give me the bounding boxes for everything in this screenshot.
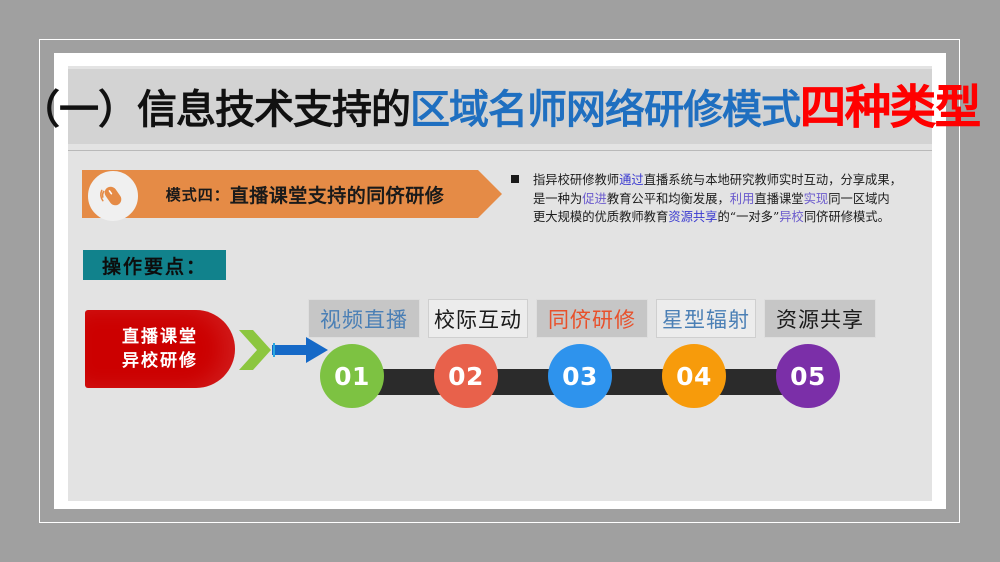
step-node-02[interactable]: 02 xyxy=(434,344,498,408)
desc-l3-c: 同侪研修模式。 xyxy=(804,210,890,224)
operation-points-tag: 操作要点： xyxy=(83,250,226,280)
step-label-box-01[interactable]: 视频直播 xyxy=(308,299,420,338)
desc-l3-highlight-1: 资源共享 xyxy=(668,210,717,224)
desc-l2-b: 教育公平和均衡发展， xyxy=(607,192,730,206)
desc-l3-a: 更大规模的优质教师教育 xyxy=(533,210,668,224)
desc-l2-d: 同一区域内 xyxy=(828,192,890,206)
title-divider-rule xyxy=(68,150,932,151)
step-node-04[interactable]: 04 xyxy=(662,344,726,408)
mode-description: 指异校研修教师通过直播系统与本地研究教师实时互动，分享成果， 是一种为促进教育公… xyxy=(505,171,935,227)
page-title-band: （一）信息技术支持的区域名师网络研修模式四种类型 xyxy=(68,69,932,144)
desc-l2-highlight-1: 促进 xyxy=(582,192,607,206)
step-label-text: 视频直播 xyxy=(320,304,408,334)
mode-banner: 模式四：直播课堂支持的同侪研修 xyxy=(82,170,502,218)
mode-banner-text: 模式四：直播课堂支持的同侪研修 xyxy=(140,170,470,218)
step-label-text: 资源共享 xyxy=(776,304,864,334)
step-label-box-03[interactable]: 同侪研修 xyxy=(536,299,648,338)
step-label-box-04[interactable]: 星型辐射 xyxy=(656,299,756,338)
step-label-box-05[interactable]: 资源共享 xyxy=(764,299,876,338)
page-title-part-red: 四种类型 xyxy=(800,80,980,134)
source-bullet-line-2: 异校研修 xyxy=(122,349,198,373)
step-label-row: 视频直播校际互动同侪研修星型辐射资源共享 xyxy=(308,299,908,338)
operation-points-label: 操作要点： xyxy=(102,252,207,279)
step-node-03[interactable]: 03 xyxy=(548,344,612,408)
computer-mouse-glyph xyxy=(99,182,127,210)
step-label-box-02[interactable]: 校际互动 xyxy=(428,299,528,338)
page-title: （一）信息技术支持的区域名师网络研修模式四种类型 xyxy=(20,84,980,130)
description-line-2: 是一种为促进教育公平和均衡发展，利用直播课堂实现同一区域内 xyxy=(533,190,935,209)
desc-l3-b: 的“一对多” xyxy=(717,210,779,224)
description-line-1: 指异校研修教师通过直播系统与本地研究教师实时互动，分享成果， xyxy=(533,171,935,190)
step-node-05[interactable]: 05 xyxy=(776,344,840,408)
green-chevron-icon xyxy=(237,330,273,370)
step-label-text: 星型辐射 xyxy=(662,304,750,334)
description-line-3: 更大规模的优质教师教育资源共享的“一对多”异校同侪研修模式。 xyxy=(533,208,935,227)
step-label-text: 同侪研修 xyxy=(548,304,636,334)
desc-l3-highlight-2: 异校 xyxy=(779,210,804,224)
desc-l1-a: 指异校研修教师 xyxy=(533,173,619,187)
step-chain: 0102030405 xyxy=(320,344,910,422)
mode-banner-label: 模式四： xyxy=(166,184,230,205)
desc-l2-highlight-3: 实现 xyxy=(804,192,829,206)
description-bullet-icon xyxy=(511,175,519,183)
desc-l2-highlight-2: 利用 xyxy=(730,192,755,206)
page-title-part-blue: 区域名师网络研修模式 xyxy=(410,87,800,133)
desc-l1-b: 直播系统与本地研究教师实时互动，分享成果， xyxy=(644,173,902,187)
step-node-01[interactable]: 01 xyxy=(320,344,384,408)
mode-banner-title: 直播课堂支持的同侪研修 xyxy=(230,181,445,208)
source-bullet-line-1: 直播课堂 xyxy=(122,325,198,349)
step-label-text: 校际互动 xyxy=(434,304,522,334)
desc-l2-a: 是一种为 xyxy=(533,192,582,206)
desc-l2-c: 直播课堂 xyxy=(754,192,803,206)
computer-mouse-icon xyxy=(88,171,138,221)
page-title-part-black: （一）信息技术支持的 xyxy=(20,87,410,133)
source-bullet-shape: 直播课堂 异校研修 xyxy=(85,310,235,388)
desc-l1-highlight: 通过 xyxy=(619,173,644,187)
description-lines: 指异校研修教师通过直播系统与本地研究教师实时互动，分享成果， 是一种为促进教育公… xyxy=(533,171,935,227)
